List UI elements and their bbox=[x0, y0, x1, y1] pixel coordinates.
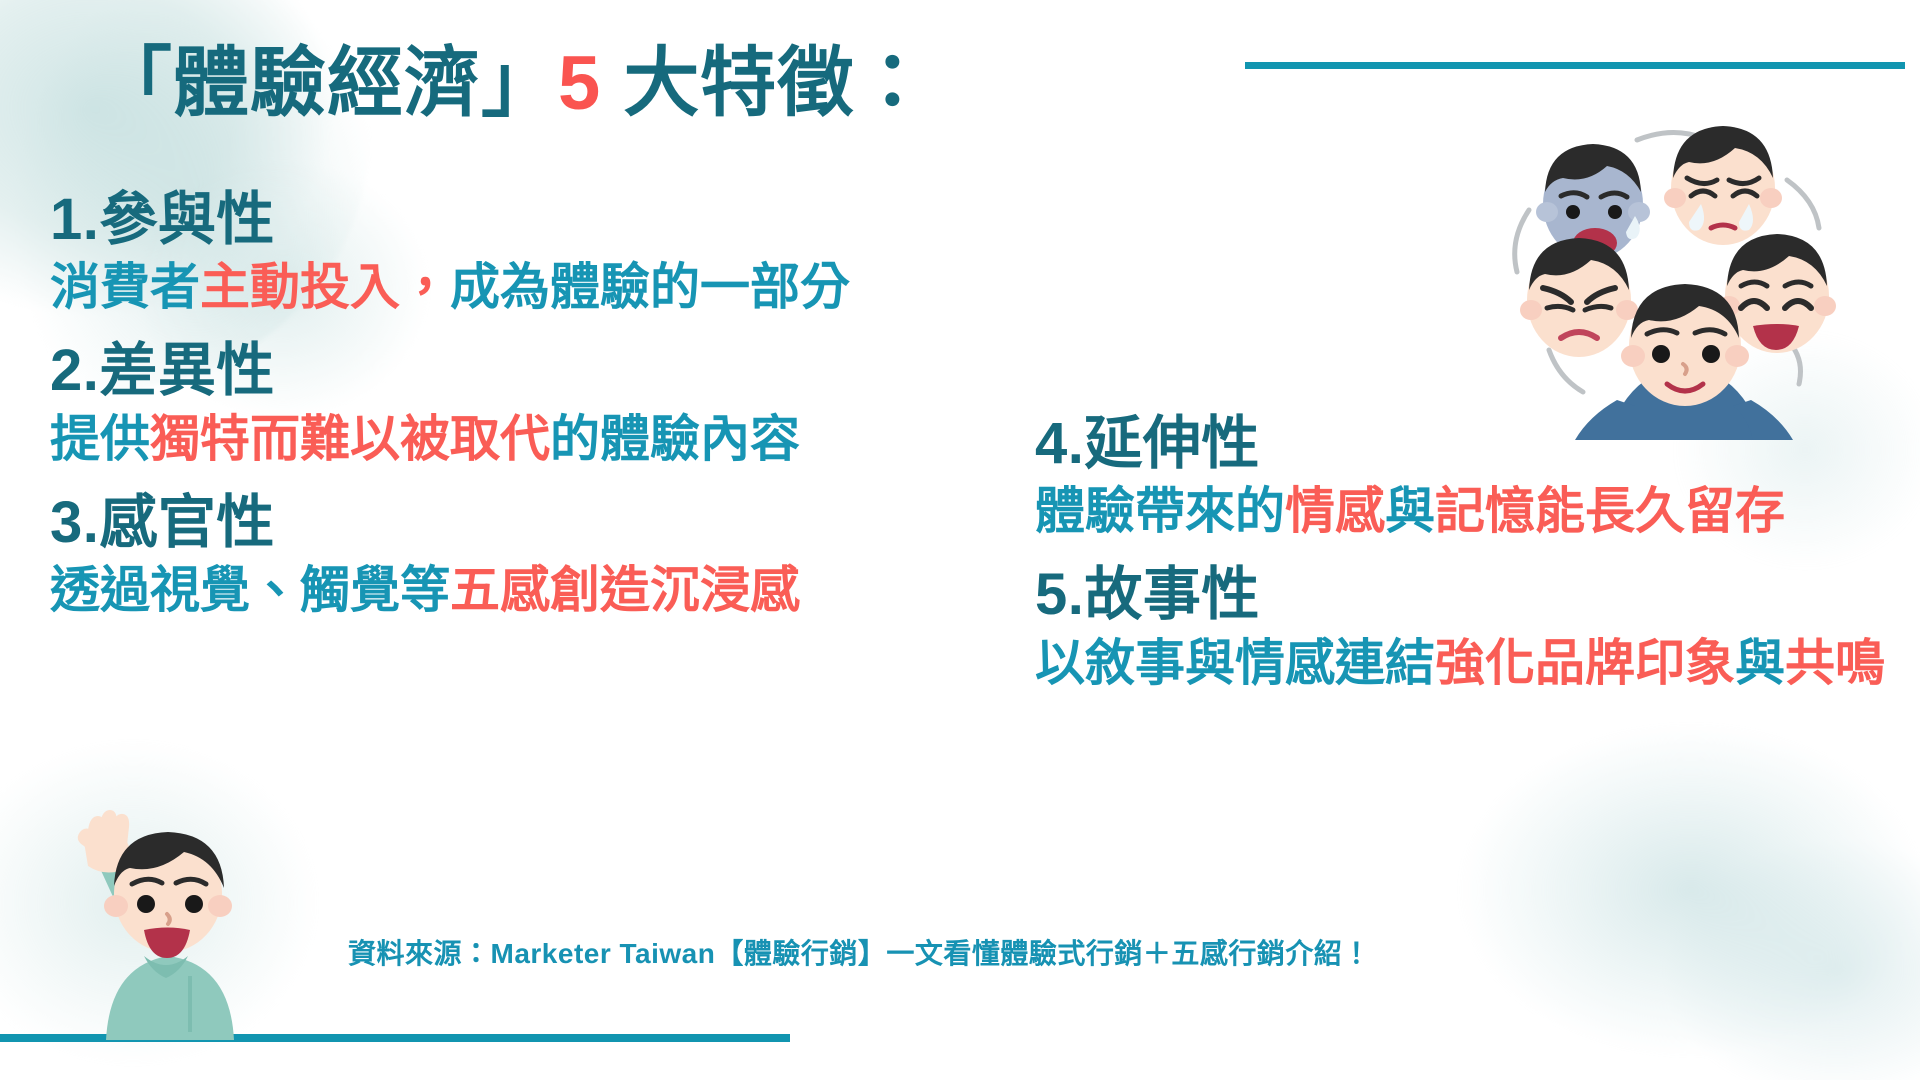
feature-item: 1.參與性消費者主動投入，成為體驗的一部分 bbox=[50, 186, 1010, 319]
description-highlight: 長久留存 bbox=[1585, 483, 1785, 539]
description-text: 以敘事與情感連結 bbox=[1035, 635, 1435, 691]
description-text: 與 bbox=[1385, 483, 1435, 539]
feature-item-description: 體驗帶來的情感與記憶能長久留存 bbox=[1035, 480, 1915, 543]
feature-item: 5.故事性以敘事與情感連結強化品牌印象與共鳴 bbox=[1035, 561, 1915, 694]
description-highlight: 情感 bbox=[1285, 483, 1385, 539]
description-text: 透過視覺、觸覺等 bbox=[50, 562, 450, 618]
page-title: 「體驗經濟」5 大特徵： bbox=[96, 42, 931, 126]
feature-item-description: 透過視覺、觸覺等五感創造沉浸感 bbox=[50, 559, 1010, 622]
page-title-suffix: 大特徵： bbox=[601, 41, 931, 126]
feature-item-description: 提供獨特而難以被取代的體驗內容 bbox=[50, 408, 1010, 471]
description-text: 與 bbox=[1735, 635, 1785, 691]
description-highlight: 五感創造沉浸感 bbox=[450, 562, 800, 618]
description-text: 成為體驗的一部分 bbox=[450, 259, 850, 315]
description-text: 消費者 bbox=[50, 259, 200, 315]
top-right-divider-line bbox=[1245, 62, 1905, 69]
description-text: 的體驗內容 bbox=[550, 411, 800, 467]
features-left-column: 1.參與性消費者主動投入，成為體驗的一部分2.差異性提供獨特而難以被取代的體驗內… bbox=[50, 186, 1010, 640]
feature-item-title: 2.差異性 bbox=[50, 337, 1010, 405]
five-emotion-faces-illustration bbox=[1487, 100, 1917, 440]
feature-item-title: 5.故事性 bbox=[1035, 561, 1915, 629]
feature-item: 3.感官性透過視覺、觸覺等五感創造沉浸感 bbox=[50, 489, 1010, 622]
watercolor-blob-bottom-right bbox=[1400, 690, 1920, 1080]
description-text: 體驗帶來的 bbox=[1035, 483, 1285, 539]
description-highlight: 獨特而難以被取代 bbox=[150, 411, 550, 467]
boy-raising-hand-illustration bbox=[40, 790, 290, 1040]
features-right-column: 4.延伸性體驗帶來的情感與記憶能長久留存5.故事性以敘事與情感連結強化品牌印象與… bbox=[1035, 410, 1915, 713]
feature-item-description: 消費者主動投入，成為體驗的一部分 bbox=[50, 256, 1010, 319]
feature-item: 2.差異性提供獨特而難以被取代的體驗內容 bbox=[50, 337, 1010, 470]
feature-item-title: 3.感官性 bbox=[50, 489, 1010, 557]
description-highlight: 強化品牌印象 bbox=[1435, 635, 1735, 691]
feature-item-title: 1.參與性 bbox=[50, 186, 1010, 254]
page-title-prefix: 「體驗經濟」 bbox=[96, 41, 558, 126]
description-text: 提供 bbox=[50, 411, 150, 467]
description-highlight: 記憶能 bbox=[1435, 483, 1585, 539]
face-sad bbox=[1664, 126, 1782, 245]
page-title-count: 5 bbox=[558, 41, 601, 126]
slide-canvas: 「體驗經濟」5 大特徵： 1.參與性消費者主動投入，成為體驗的一部分2.差異性提… bbox=[0, 0, 1920, 1080]
description-highlight: 主動投入， bbox=[200, 259, 450, 315]
face-angry bbox=[1520, 238, 1638, 357]
feature-item-description: 以敘事與情感連結強化品牌印象與共鳴 bbox=[1035, 632, 1915, 695]
source-citation: 資料來源：Marketer Taiwan【體驗行銷】一文看懂體驗式行銷＋五感行銷… bbox=[348, 932, 1371, 972]
description-highlight: 共鳴 bbox=[1785, 635, 1885, 691]
